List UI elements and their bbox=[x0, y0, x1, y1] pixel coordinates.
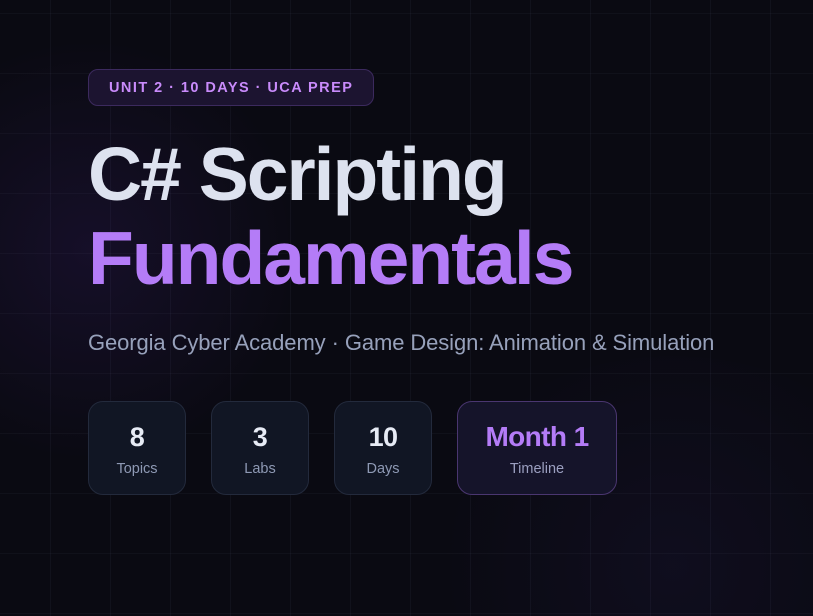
stat-value: 10 bbox=[369, 421, 398, 453]
stat-label: Timeline bbox=[510, 460, 564, 478]
stats-row: 8 Topics 3 Labs 10 Days Month 1 Timeline bbox=[88, 401, 617, 495]
page-title: C# Scripting Fundamentals bbox=[88, 132, 572, 300]
stat-label: Labs bbox=[244, 460, 275, 478]
stat-card-topics: 8 Topics bbox=[88, 401, 186, 495]
stat-value: Month 1 bbox=[485, 421, 588, 453]
stat-label: Days bbox=[366, 460, 399, 478]
stat-value: 8 bbox=[130, 421, 144, 453]
slide-content: UNIT 2 · 10 DAYS · UCA PREP C# Scripting… bbox=[88, 0, 813, 616]
title-slide: UNIT 2 · 10 DAYS · UCA PREP C# Scripting… bbox=[0, 0, 813, 616]
page-title-line-1: C# Scripting bbox=[88, 132, 506, 216]
stat-card-days: 10 Days bbox=[334, 401, 432, 495]
stat-card-timeline: Month 1 Timeline bbox=[457, 401, 617, 495]
unit-badge: UNIT 2 · 10 DAYS · UCA PREP bbox=[88, 69, 374, 106]
page-subtitle: Georgia Cyber Academy · Game Design: Ani… bbox=[88, 328, 714, 358]
stat-value: 3 bbox=[253, 421, 267, 453]
stat-card-labs: 3 Labs bbox=[211, 401, 309, 495]
stat-label: Topics bbox=[116, 460, 157, 478]
page-title-line-2: Fundamentals bbox=[88, 216, 572, 300]
